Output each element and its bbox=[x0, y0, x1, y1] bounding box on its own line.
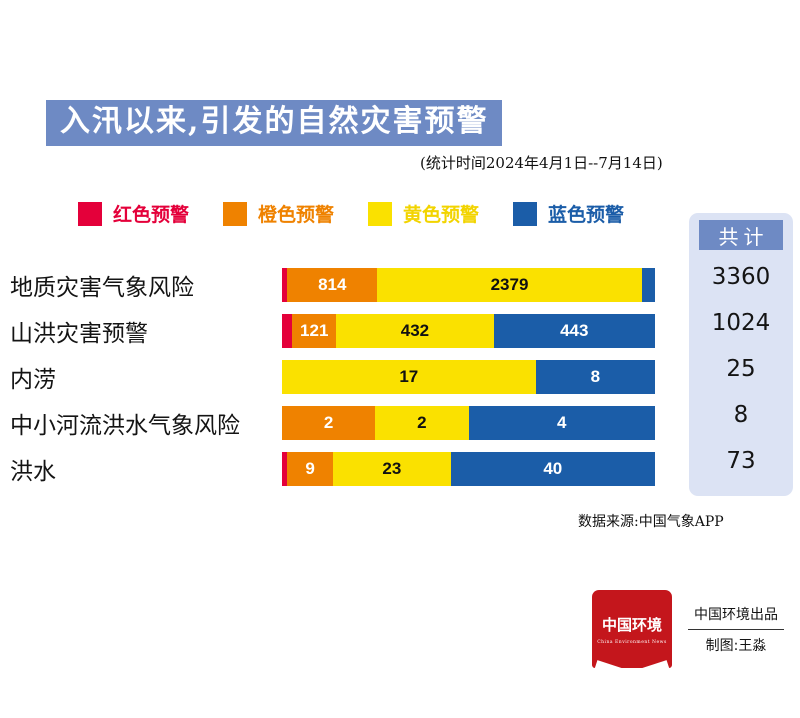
chart-segment-value: 23 bbox=[382, 459, 401, 479]
total-value: 8 bbox=[689, 392, 793, 438]
chart-segment-value: 432 bbox=[401, 321, 429, 341]
chart-segment-blue bbox=[642, 268, 655, 302]
chart-bar: 121432443 bbox=[282, 314, 655, 348]
chart-segment-value: 4 bbox=[557, 413, 566, 433]
chart-segment-blue: 443 bbox=[494, 314, 655, 348]
chart-bar: 178 bbox=[282, 360, 655, 394]
logo-english-text: China Environment News bbox=[597, 640, 667, 645]
chart-segment-orange: 121 bbox=[292, 314, 336, 348]
infographic-canvas: 入汛以来,引发的自然灾害预警 (统计时间2024年4月1日--7月14日) 红色… bbox=[0, 0, 800, 718]
total-value: 73 bbox=[689, 438, 793, 484]
chart-segment-yellow: 2379 bbox=[377, 268, 641, 302]
chart-row-label: 内涝 bbox=[0, 360, 282, 394]
legend-item-red: 红色预警 bbox=[78, 200, 189, 227]
chart-segment-value: 9 bbox=[305, 459, 314, 479]
total-value: 25 bbox=[689, 346, 793, 392]
chart-bar: 224 bbox=[282, 406, 655, 440]
legend-swatch-orange-icon bbox=[223, 202, 247, 226]
chart-segment-blue: 40 bbox=[451, 452, 655, 486]
footer-credits: 中国环境出品 制图:王淼 bbox=[688, 604, 784, 655]
chart-segment-blue: 8 bbox=[536, 360, 655, 394]
totals-panel: 共计 3360102425873 bbox=[689, 213, 793, 496]
footer-producer: 中国环境出品 bbox=[688, 604, 784, 629]
chart-row-label: 洪水 bbox=[0, 452, 282, 486]
chart-segment-orange: 2 bbox=[282, 406, 375, 440]
chart-segment-yellow: 432 bbox=[336, 314, 493, 348]
chart-row: 中小河流洪水气象风险224 bbox=[0, 400, 690, 446]
total-value: 1024 bbox=[689, 300, 793, 346]
chart-row: 内涝178 bbox=[0, 354, 690, 400]
footer: 中国环境 China Environment News 中国环境出品 制图:王淼 bbox=[592, 590, 784, 668]
legend-item-orange: 橙色预警 bbox=[223, 200, 334, 227]
total-value: 3360 bbox=[689, 254, 793, 300]
chart-bar: 8142379 bbox=[282, 268, 655, 302]
chart-segment-value: 121 bbox=[300, 321, 328, 341]
chart-segment-yellow: 23 bbox=[333, 452, 451, 486]
chart-bar: 92340 bbox=[282, 452, 655, 486]
stacked-bar-chart: 地质灾害气象风险8142379山洪灾害预警121432443内涝178中小河流洪… bbox=[0, 262, 690, 492]
chart-row: 山洪灾害预警121432443 bbox=[0, 308, 690, 354]
chart-row: 洪水92340 bbox=[0, 446, 690, 492]
subtitle-period: (统计时间2024年4月1日--7月14日) bbox=[420, 152, 663, 173]
chart-segment-value: 2 bbox=[417, 413, 426, 433]
chart-segment-value: 2 bbox=[324, 413, 333, 433]
chart-segment-value: 814 bbox=[318, 275, 346, 295]
chart-segment-orange: 9 bbox=[287, 452, 333, 486]
totals-list: 3360102425873 bbox=[689, 254, 793, 484]
chart-segment-value: 2379 bbox=[491, 275, 529, 295]
logo-chinese-text: 中国环境 bbox=[602, 614, 662, 635]
legend-label-yellow: 黄色预警 bbox=[403, 200, 479, 227]
chart-row-label: 山洪灾害预警 bbox=[0, 314, 282, 348]
page-title: 入汛以来,引发的自然灾害预警 bbox=[46, 100, 502, 146]
chart-segment-value: 40 bbox=[543, 459, 562, 479]
data-source-note: 数据来源:中国气象APP bbox=[578, 511, 724, 531]
chart-segment-red bbox=[282, 314, 292, 348]
chart-legend: 红色预警 橙色预警 黄色预警 蓝色预警 bbox=[78, 200, 658, 227]
legend-label-blue: 蓝色预警 bbox=[548, 200, 624, 227]
legend-item-blue: 蓝色预警 bbox=[513, 200, 624, 227]
china-environment-logo-icon: 中国环境 China Environment News bbox=[592, 590, 672, 668]
chart-segment-yellow: 2 bbox=[375, 406, 468, 440]
chart-segment-blue: 4 bbox=[469, 406, 656, 440]
chart-segment-yellow: 17 bbox=[282, 360, 536, 394]
chart-row-label: 中小河流洪水气象风险 bbox=[0, 406, 282, 440]
legend-swatch-blue-icon bbox=[513, 202, 537, 226]
legend-label-red: 红色预警 bbox=[113, 200, 189, 227]
legend-item-yellow: 黄色预警 bbox=[368, 200, 479, 227]
chart-segment-value: 443 bbox=[560, 321, 588, 341]
chart-segment-value: 17 bbox=[399, 367, 418, 387]
legend-swatch-red-icon bbox=[78, 202, 102, 226]
legend-swatch-yellow-icon bbox=[368, 202, 392, 226]
chart-row: 地质灾害气象风险8142379 bbox=[0, 262, 690, 308]
title-container: 入汛以来,引发的自然灾害预警 bbox=[46, 100, 502, 146]
chart-segment-orange: 814 bbox=[287, 268, 377, 302]
chart-segment-value: 8 bbox=[591, 367, 600, 387]
totals-header: 共计 bbox=[699, 220, 783, 250]
footer-designer: 制图:王淼 bbox=[688, 630, 784, 655]
chart-row-label: 地质灾害气象风险 bbox=[0, 268, 282, 302]
legend-label-orange: 橙色预警 bbox=[258, 200, 334, 227]
